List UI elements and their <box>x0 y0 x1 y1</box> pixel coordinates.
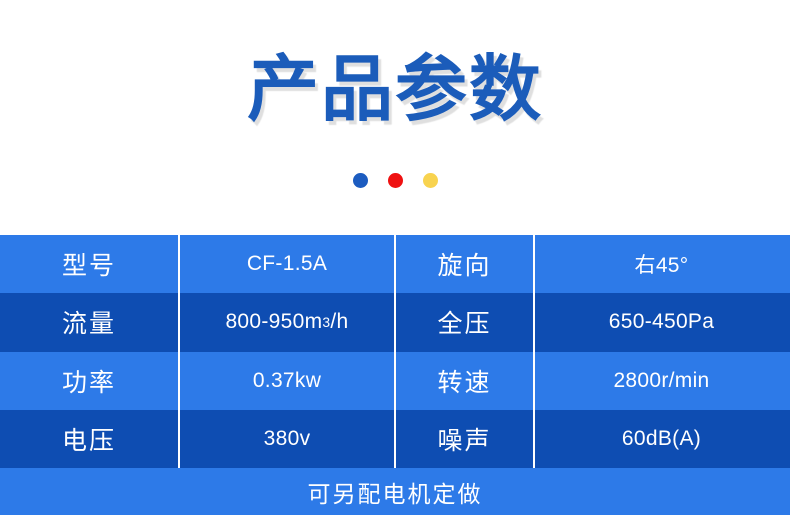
table-row: 型号 CF-1.5A 旋向 右45° <box>0 235 790 293</box>
spec-table: 型号 CF-1.5A 旋向 右45° 流量 800-950m3/h 全压 650… <box>0 235 790 468</box>
footer-note: 可另配电机定做 <box>0 468 790 515</box>
spec-label-noise: 噪声 <box>394 410 533 468</box>
dot-red-icon <box>388 173 403 188</box>
spec-value-noise: 60dB(A) <box>533 410 788 468</box>
table-row: 功率 0.37kw 转速 2800r/min <box>0 352 790 410</box>
spec-value-airflow: 800-950m3/h <box>178 293 394 351</box>
spec-value-pressure: 650-450Pa <box>533 293 788 351</box>
dot-yellow-icon <box>423 173 438 188</box>
dot-blue-icon <box>353 173 368 188</box>
spec-value-power: 0.37kw <box>178 352 394 410</box>
spec-label-pressure: 全压 <box>394 293 533 351</box>
spec-label-airflow: 流量 <box>0 293 178 351</box>
header-section: 产品参数 <box>0 0 790 235</box>
table-row: 流量 800-950m3/h 全压 650-450Pa <box>0 293 790 351</box>
spec-label-voltage: 电压 <box>0 410 178 468</box>
table-row: 电压 380v 噪声 60dB(A) <box>0 410 790 468</box>
spec-value-airflow-suffix: /h <box>330 310 348 334</box>
page-title: 产品参数 <box>0 47 790 133</box>
product-spec-page: 产品参数 型号 CF-1.5A 旋向 右45° 流量 800-950m3/h 全… <box>0 0 790 515</box>
spec-label-speed: 转速 <box>394 352 533 410</box>
spec-value-rotation: 右45° <box>533 235 788 293</box>
spec-value-voltage: 380v <box>178 410 394 468</box>
spec-label-power: 功率 <box>0 352 178 410</box>
spec-value-airflow-prefix: 800-950m <box>225 310 322 334</box>
spec-label-rotation: 旋向 <box>394 235 533 293</box>
decorative-dots <box>0 173 790 188</box>
spec-label-model: 型号 <box>0 235 178 293</box>
spec-value-speed: 2800r/min <box>533 352 788 410</box>
spec-value-model: CF-1.5A <box>178 235 394 293</box>
